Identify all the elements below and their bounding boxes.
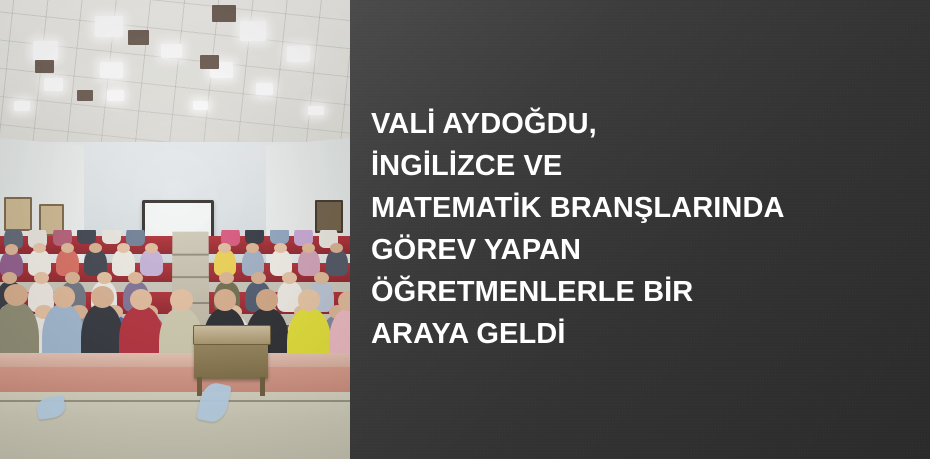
ceiling-vent [35,60,54,74]
wall-picture-frame [315,200,344,234]
audience-person [140,249,163,275]
vip-person-head [338,291,350,311]
ceiling-lamp [287,46,310,63]
vip-person-head [91,286,114,307]
headline-line-4: GÖREV YAPAN [371,229,912,271]
ceiling-lamp [107,90,125,102]
audience-person [326,249,349,275]
wall-picture-frame [4,197,33,231]
vip-person-head [53,286,76,307]
aisle-step [172,253,208,255]
audience-person [126,230,145,247]
article-headline[interactable]: VALİ AYDOĞDU, İNGİLİZCE VE MATEMATİK BRA… [371,103,912,355]
coffee-table [194,333,268,379]
news-thumbnail-card[interactable]: VALİ AYDOĞDU, İNGİLİZCE VE MATEMATİK BRA… [0,0,930,459]
audience-person-head [145,243,158,253]
ceiling-lamp [14,101,30,111]
audience-person-head [33,243,46,253]
headline-panel: VALİ AYDOĞDU, İNGİLİZCE VE MATEMATİK BRA… [350,0,930,459]
ceiling-vent [212,5,237,22]
headline-line-2: İNGİLİZCE VE [371,145,912,187]
ceiling-vent [77,90,93,101]
ceiling-vent [200,55,219,69]
ceiling-lamp [240,21,266,41]
vip-person-head [256,289,279,310]
ceiling-lamp [100,62,123,79]
ceiling [0,0,350,151]
vip-person-head [170,289,193,310]
floor-step-riser [0,367,350,392]
ceiling-lamp [33,41,58,59]
ceiling-lamp [256,83,274,95]
ceiling-lamp [44,78,63,91]
ceiling-tile-grid [0,0,350,151]
table-top [193,325,271,344]
audience-person-head [5,244,18,254]
table-leg [260,377,265,396]
vip-person-head [214,289,237,310]
ceiling-lamp [308,106,324,115]
ceiling-vent [128,30,149,46]
audience-person [245,230,264,245]
vip-person-head [298,289,321,310]
floor-step-upper [0,353,350,367]
headline-line-3: MATEMATİK BRANŞLARINDA [371,187,912,229]
ceiling-lamp [95,16,123,37]
audience-person-head [89,243,102,253]
article-photo [0,0,350,459]
audience-person [102,230,121,245]
audience-person-head [61,243,74,253]
audience-person-head [117,243,130,253]
ceiling-lamp [161,44,182,59]
vip-person-head [130,289,153,310]
headline-line-6: ARAYA GELDİ [371,313,912,355]
headline-line-1: VALİ AYDOĞDU, [371,103,912,145]
ceiling-lamp [193,101,209,110]
headline-line-5: ÖĞRETMENLERLE BİR [371,271,912,313]
